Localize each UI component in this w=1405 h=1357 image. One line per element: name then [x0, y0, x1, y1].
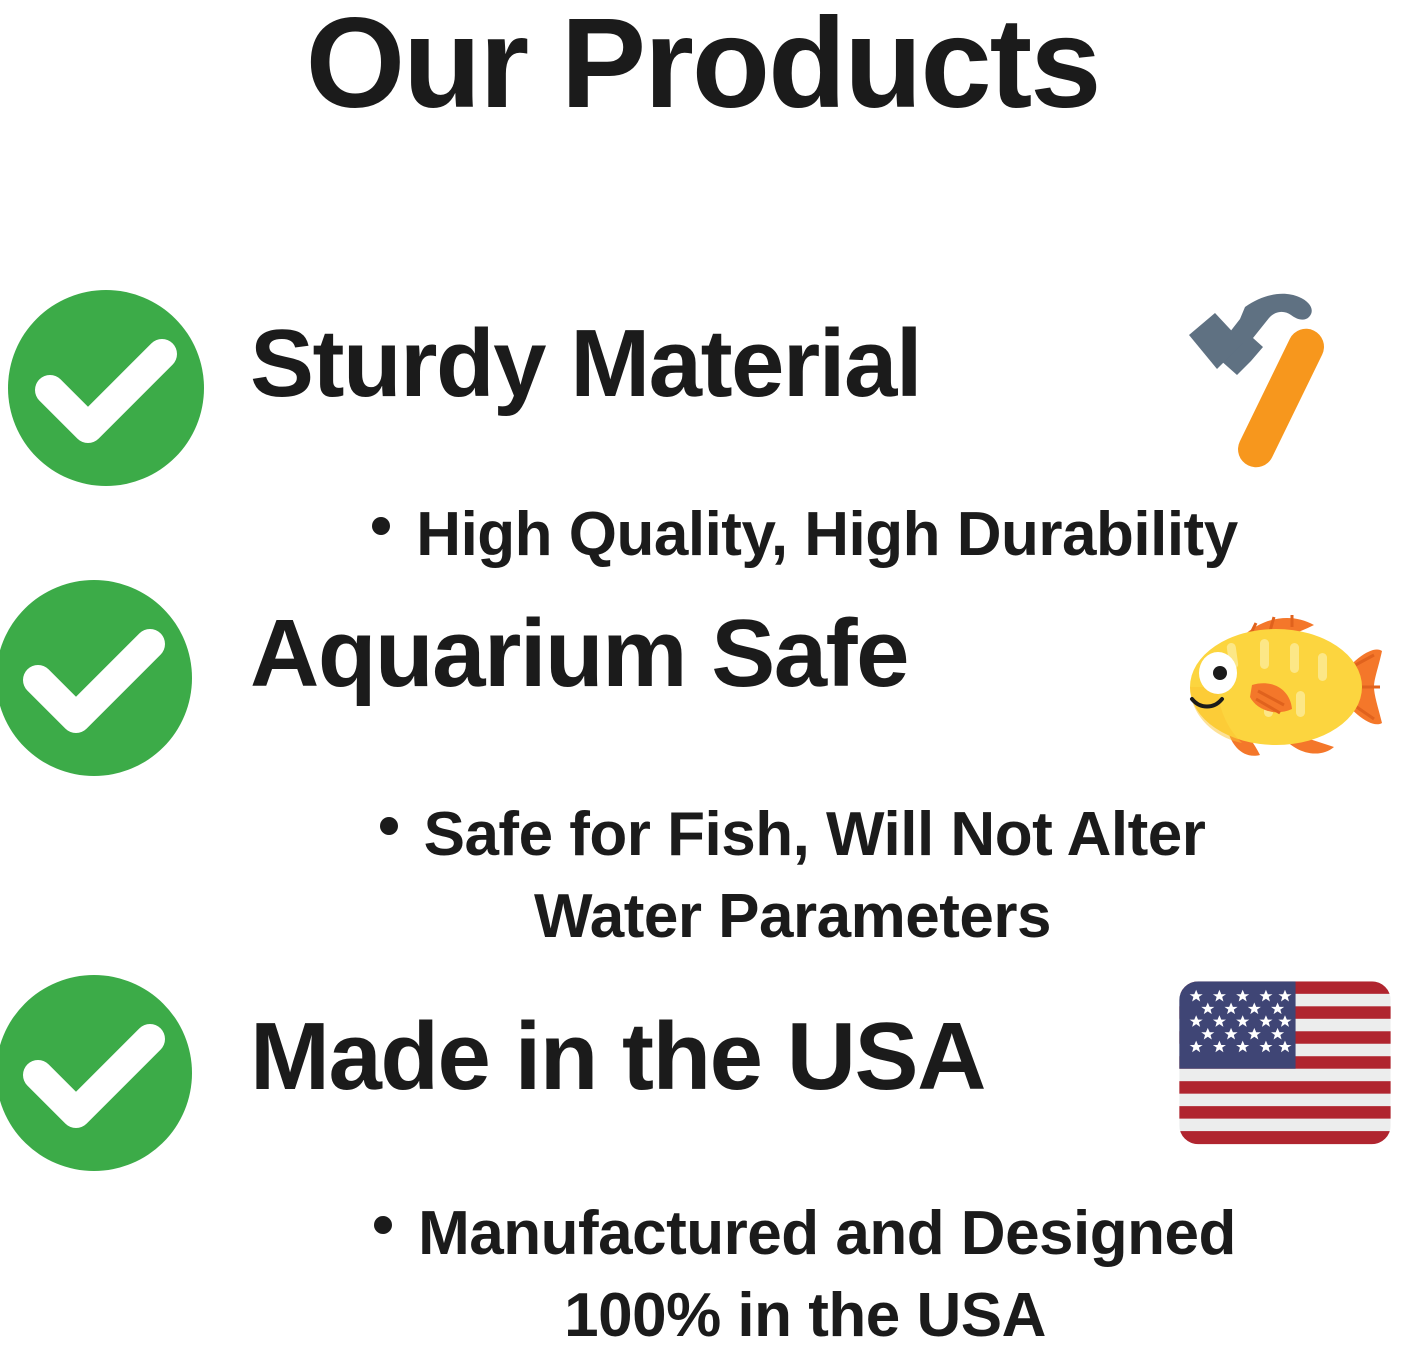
bullet-text: Manufactured and Designed [418, 1199, 1236, 1268]
feature-block-aquarium-safe: Aquarium Safe [0, 580, 1405, 958]
feature-bullet-list: Safe for Fish, Will Not Alter Water Para… [0, 794, 1405, 958]
feature-bullet-list: Manufactured and Designed 100% in the US… [0, 1193, 1405, 1357]
check-circle-icon [0, 580, 192, 776]
usa-flag-emoji [1175, 975, 1395, 1175]
bullet-text: 100% in the USA [564, 1281, 1046, 1350]
feature-header: Sturdy Material [0, 290, 1405, 490]
feature-title: Aquarium Safe [250, 606, 908, 702]
bullet-text: High Quality, High Durability [416, 500, 1237, 569]
feature-header: Aquarium Safe [0, 580, 1405, 780]
tropical-fish-emoji [1168, 595, 1388, 795]
bullet-dot-icon [380, 817, 398, 835]
page-title: Our Products [0, 0, 1405, 135]
feature-title: Sturdy Material [250, 316, 921, 412]
bullet-dot-icon [374, 1216, 392, 1234]
bullet-item-continuation: Water Parameters [300, 876, 1285, 958]
check-circle-icon [8, 290, 204, 486]
feature-block-sturdy-material: Sturdy Material High Quality, High Durab… [0, 290, 1405, 576]
bullet-text: Water Parameters [534, 882, 1051, 951]
bullet-item: Safe for Fish, Will Not Alter [300, 794, 1285, 876]
bullet-dot-icon [372, 517, 390, 535]
bullet-item: Manufactured and Designed [300, 1193, 1310, 1275]
feature-bullet-list: High Quality, High Durability [0, 494, 1405, 576]
check-circle-icon [0, 975, 192, 1171]
feature-title: Made in the USA [250, 1009, 985, 1105]
feature-block-made-in-usa: Made in the USA [0, 975, 1405, 1357]
feature-header: Made in the USA [0, 975, 1405, 1175]
hammer-emoji [1165, 285, 1385, 485]
bullet-text: Safe for Fish, Will Not Alter [424, 800, 1206, 869]
bullet-item-continuation: 100% in the USA [300, 1275, 1310, 1357]
bullet-item: High Quality, High Durability [300, 494, 1310, 576]
